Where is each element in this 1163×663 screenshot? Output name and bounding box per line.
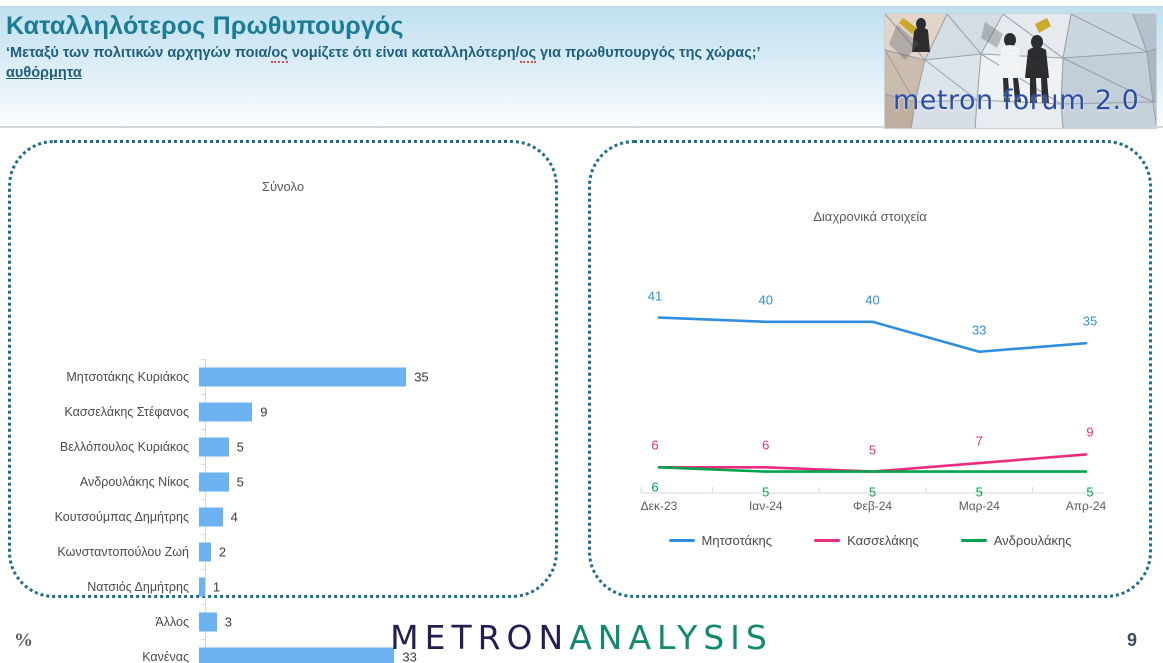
bar-fill[interactable] xyxy=(199,577,205,596)
line-point-value-label: 7 xyxy=(976,434,983,449)
legend-color-swatch xyxy=(669,539,695,542)
bar-category-label: Ανδρουλάκης Νίκος xyxy=(29,474,199,490)
bar-axis-tick xyxy=(201,499,206,500)
legend-color-swatch xyxy=(961,539,987,542)
bar-axis-tick xyxy=(201,534,206,535)
line-point-value-label: 5 xyxy=(1086,484,1093,499)
methodology-link[interactable]: αυθόρμητα xyxy=(6,65,82,81)
page-subtitle: ‘Μεταξύ των πολιτικών αρχηγών ποια/ος νο… xyxy=(6,43,886,64)
bar-fill[interactable] xyxy=(199,472,229,491)
bar-value-label: 9 xyxy=(260,404,267,419)
bar-fill[interactable] xyxy=(199,507,223,526)
timeseries-card: Διαχρονικά στοιχεία 41404033356657965555… xyxy=(588,140,1152,598)
bar-category-label: Μητσοτάκης Κυριάκος xyxy=(29,369,199,385)
line-point-value-label: 40 xyxy=(759,292,773,307)
slide-root: Καταλληλότερος Πρωθυπουργός ‘Μεταξύ των … xyxy=(0,0,1163,663)
line-chart-x-label: Μαρ-24 xyxy=(959,499,1000,513)
bar-fill[interactable] xyxy=(199,402,252,421)
bar-axis-tick xyxy=(201,569,206,570)
brand-analysis: ANALYSIS xyxy=(569,618,773,657)
brand-metron: METRON xyxy=(390,618,569,657)
legend-color-swatch xyxy=(814,539,840,542)
bar-value-label: 1 xyxy=(213,579,220,594)
line-chart-plot: 41404033356657965555Δεκ-23Ιαν-24Φεβ-24Μα… xyxy=(591,143,1149,595)
subtitle-text-1: ‘Μεταξύ των πολιτικών αρχηγών ποια/ xyxy=(6,45,271,61)
subtitle-text-2: νομίζετε ότι είναι καταλληλότερη/ xyxy=(288,45,520,61)
bar-chart-row: Μητσοτάκης Κυριάκος35 xyxy=(29,359,529,394)
line-chart-x-label: Ιαν-24 xyxy=(749,499,783,513)
bar-track: 5 xyxy=(199,464,529,499)
bar-value-label: 5 xyxy=(237,439,244,454)
bar-value-label: 35 xyxy=(414,369,428,384)
legend-item[interactable]: Μητσοτάκης xyxy=(669,533,773,548)
line-point-value-label: 6 xyxy=(651,438,658,453)
total-results-card: Σύνολο Μητσοτάκης Κυριάκος35Κασσελάκης Σ… xyxy=(8,140,558,598)
bar-chart-row: Κουτσούμπας Δημήτρης4 xyxy=(29,499,529,534)
line-point-value-label: 41 xyxy=(648,288,662,303)
bar-axis-tick xyxy=(201,429,206,430)
slide-footer: % METRONANALYSIS 9 xyxy=(0,600,1163,663)
slide-header: Καταλληλότερος Πρωθυπουργός ‘Μεταξύ των … xyxy=(0,6,1163,128)
line-series-path[interactable] xyxy=(659,318,1086,352)
metron-forum-logo-image: metron forum 2.0 xyxy=(884,13,1157,129)
line-chart-legend: ΜητσοτάκηςΚασσελάκηςΑνδρουλάκης xyxy=(591,533,1149,548)
bar-category-label: Κουτσούμπας Δημήτρης xyxy=(29,509,199,525)
bar-fill[interactable] xyxy=(199,367,406,386)
line-point-value-label: 9 xyxy=(1086,425,1093,440)
bar-track: 5 xyxy=(199,429,529,464)
legend-item[interactable]: Κασσελάκης xyxy=(814,533,919,548)
bar-category-label: Βελλόπουλος Κυριάκος xyxy=(29,439,199,455)
bar-track: 9 xyxy=(199,394,529,429)
page-number: 9 xyxy=(1127,630,1137,651)
subtitle-spellcheck-1: ος xyxy=(271,45,287,63)
bar-chart-row: Κασσελάκης Στέφανος9 xyxy=(29,394,529,429)
bar-track: 1 xyxy=(199,569,529,604)
bar-track: 2 xyxy=(199,534,529,569)
legend-label: Μητσοτάκης xyxy=(702,533,773,548)
line-point-value-label: 5 xyxy=(869,442,876,457)
forum-logo-text: metron forum 2.0 xyxy=(893,85,1151,116)
bar-axis-tick xyxy=(201,359,206,360)
bar-axis-tick xyxy=(201,464,206,465)
bar-chart-row: Ανδρουλάκης Νίκος5 xyxy=(29,464,529,499)
line-chart-x-label: Απρ-24 xyxy=(1066,499,1106,513)
line-chart-x-label: Δεκ-23 xyxy=(641,499,678,513)
bar-category-label: Κασσελάκης Στέφανος xyxy=(29,404,199,420)
line-point-value-label: 5 xyxy=(762,484,769,499)
legend-label: Κασσελάκης xyxy=(847,533,919,548)
line-point-value-label: 5 xyxy=(976,484,983,499)
bar-fill[interactable] xyxy=(199,437,229,456)
bar-category-label: Νατσιός Δημήτρης xyxy=(29,579,199,595)
unit-label: % xyxy=(14,630,33,652)
legend-item[interactable]: Ανδρουλάκης xyxy=(961,533,1072,548)
bar-value-label: 4 xyxy=(231,509,238,524)
line-point-value-label: 5 xyxy=(869,484,876,499)
bar-chart-row: Νατσιός Δημήτρης1 xyxy=(29,569,529,604)
bar-chart-row: Βελλόπουλος Κυριάκος5 xyxy=(29,429,529,464)
line-point-value-label: 6 xyxy=(651,480,658,495)
line-point-value-label: 35 xyxy=(1083,314,1097,329)
bar-category-label: Κωνσταντοπούλου Ζωή xyxy=(29,544,199,560)
bar-chart-row: Κωνσταντοπούλου Ζωή2 xyxy=(29,534,529,569)
line-point-value-label: 6 xyxy=(762,438,769,453)
line-point-value-label: 40 xyxy=(865,292,879,307)
bar-value-label: 5 xyxy=(237,474,244,489)
bar-value-label: 2 xyxy=(219,544,226,559)
line-point-value-label: 33 xyxy=(972,322,986,337)
subtitle-text-3: για πρωθυπουργός της χώρας;’ xyxy=(536,45,761,61)
metron-analysis-brand: METRONANALYSIS xyxy=(390,618,773,657)
bar-axis-tick xyxy=(201,394,206,395)
bar-track: 35 xyxy=(199,359,529,394)
bar-fill[interactable] xyxy=(199,542,211,561)
subtitle-spellcheck-2: ος xyxy=(520,45,536,63)
bar-chart-plot: Μητσοτάκης Κυριάκος35Κασσελάκης Στέφανος… xyxy=(11,143,555,595)
line-chart-x-label: Φεβ-24 xyxy=(853,499,892,513)
legend-label: Ανδρουλάκης xyxy=(994,533,1072,548)
bar-track: 4 xyxy=(199,499,529,534)
